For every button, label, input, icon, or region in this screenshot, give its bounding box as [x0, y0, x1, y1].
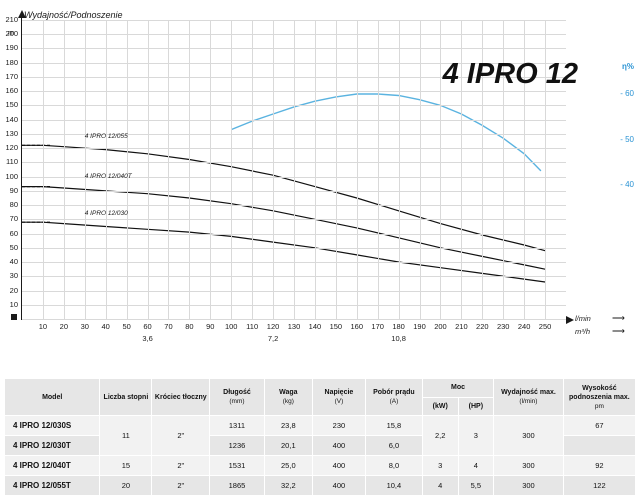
cell-voltage: 400: [312, 436, 365, 456]
gridline-v: [336, 20, 337, 319]
gridline-h: [22, 120, 566, 121]
cell-flow-max: 300: [494, 456, 564, 476]
th-weight-text: Waga: [279, 389, 297, 396]
x-axis-unit-secondary-arrow-icon: ⟶: [612, 327, 625, 335]
x-tick-label: 90: [201, 322, 219, 331]
x-axis-unit-secondary: m³/h: [575, 327, 590, 336]
th-head-max-text: Wysokość podnoszenia max.: [569, 385, 630, 401]
y-tick-label: 70: [0, 215, 18, 223]
cell-power-kw: 3: [422, 456, 458, 476]
x-tick-label: 10: [34, 322, 52, 331]
curve-4-ipro-12-040t: [22, 187, 545, 270]
th-voltage: Napięcie (V): [312, 379, 365, 416]
cell-outlet: 2": [152, 416, 210, 456]
gridline-h: [22, 248, 566, 249]
gridline-v: [420, 20, 421, 319]
cell-power-kw: 2,2: [422, 416, 458, 456]
x-tick-label: 230: [494, 322, 512, 331]
gridline-h: [22, 148, 566, 149]
x-tick-label-secondary: 7,2: [262, 334, 284, 343]
gridline-v: [357, 20, 358, 319]
x-axis-unit-primary-arrow-icon: ⟶: [612, 314, 625, 322]
gridline-h: [22, 48, 566, 49]
efficiency-tick-label: - 50: [620, 135, 634, 144]
x-tick-label: 160: [348, 322, 366, 331]
cell-model: 4 IPRO 12/040T: [5, 456, 100, 476]
th-head-max: Wysokość podnoszenia max. pm: [563, 379, 635, 416]
curve-label: 4 IPRO 12/030: [85, 210, 128, 217]
cell-weight: 25,0: [264, 456, 312, 476]
x-tick-label: 180: [390, 322, 408, 331]
specs-table: Model Liczba stopni Króciec tłoczny Dług…: [4, 378, 636, 496]
origin-marker: [11, 314, 17, 320]
cell-model: 4 IPRO 12/030T: [5, 436, 100, 456]
th-length: Długość (mm): [210, 379, 265, 416]
y-tick-label: 90: [0, 187, 18, 195]
efficiency-tick-label: - 40: [620, 180, 634, 189]
gridline-v: [440, 20, 441, 319]
gridline-v: [273, 20, 274, 319]
x-tick-label: 110: [243, 322, 261, 331]
y-tick-label: 190: [0, 44, 18, 52]
cell-current: 8,0: [365, 456, 422, 476]
gridline-v: [252, 20, 253, 319]
th-current-text: Pobór prądu: [373, 389, 415, 396]
x-tick-label: 100: [222, 322, 240, 331]
cell-voltage: 400: [312, 456, 365, 476]
gridline-h: [22, 219, 566, 220]
y-tick-label: 20: [0, 287, 18, 295]
pump-curve-datasheet: Wydajność/Podnoszenie m 1020304050607080…: [0, 0, 640, 475]
cell-outlet: 2": [152, 456, 210, 476]
cell-model: 4 IPRO 12/030S: [5, 416, 100, 436]
cell-length: 1531: [210, 456, 265, 476]
y-tick-label: 170: [0, 73, 18, 81]
table-row: 4 IPRO 12/030S112"131123,823015,82,23300…: [5, 416, 636, 436]
x-tick-label: 80: [180, 322, 198, 331]
y-tick-label: 180: [0, 59, 18, 67]
cell-stages: 20: [100, 476, 152, 496]
gridline-v: [210, 20, 211, 319]
th-stages: Liczba stopni: [100, 379, 152, 416]
cell-current: 6,0: [365, 436, 422, 456]
cell-head-max: 92: [563, 456, 635, 476]
cell-head-max: 67: [563, 416, 635, 436]
gridline-v: [378, 20, 379, 319]
x-tick-label: 40: [97, 322, 115, 331]
th-power-kw: (kW): [422, 397, 458, 416]
th-flow-max-text: Wydajność max.: [501, 389, 556, 396]
curve-4-ipro-12-055: [22, 145, 545, 250]
gridline-h: [22, 205, 566, 206]
gridline-v: [189, 20, 190, 319]
th-length-text: Długość: [223, 389, 251, 396]
specs-table-wrap: Model Liczba stopni Króciec tłoczny Dług…: [4, 378, 636, 496]
gridline-v: [85, 20, 86, 319]
cell-flow-max: 300: [494, 416, 564, 456]
gridline-h: [22, 191, 566, 192]
cell-stages: 11: [100, 416, 152, 456]
gridline-h: [22, 34, 566, 35]
x-tick-label: 250: [536, 322, 554, 331]
cell-length: 1865: [210, 476, 265, 496]
cell-length: 1236: [210, 436, 265, 456]
efficiency-tick-label: - 60: [620, 89, 634, 98]
curve-label: 4 IPRO 12/055: [85, 133, 128, 140]
cell-head-max: 122: [563, 476, 635, 496]
cell-voltage: 400: [312, 476, 365, 496]
gridline-h: [22, 319, 566, 320]
x-tick-label: 240: [515, 322, 533, 331]
x-tick-label-secondary: 10,8: [388, 334, 410, 343]
gridline-h: [22, 305, 566, 306]
cell-length: 1311: [210, 416, 265, 436]
cell-voltage: 230: [312, 416, 365, 436]
y-tick-label: 210: [0, 16, 18, 24]
th-weight: Waga (kg): [264, 379, 312, 416]
y-tick-label: 30: [0, 272, 18, 280]
gridline-v: [106, 20, 107, 319]
gridline-v: [399, 20, 400, 319]
cell-weight: 32,2: [264, 476, 312, 496]
model-brand-label: 4 IPRO 12: [443, 58, 578, 91]
th-power: Moc: [422, 379, 493, 398]
th-outlet: Króciec tłoczny: [152, 379, 210, 416]
curve-label: 4 IPRO 12/040T: [85, 173, 132, 180]
gridline-v: [127, 20, 128, 319]
y-tick-label: 120: [0, 144, 18, 152]
th-power-hp: (HP): [458, 397, 494, 416]
th-head-max-unit: pm: [595, 403, 604, 410]
x-tick-label: 190: [411, 322, 429, 331]
gridline-v: [148, 20, 149, 319]
cell-flow-max: 300: [494, 476, 564, 496]
x-tick-label: 130: [285, 322, 303, 331]
gridline-h: [22, 291, 566, 292]
cell-power-kw: 4: [422, 476, 458, 496]
x-tick-label: 60: [139, 322, 157, 331]
cell-weight: 20,1: [264, 436, 312, 456]
chart-title: Wydajność/Podnoszenie: [24, 10, 123, 20]
x-tick-label-secondary: 3,6: [137, 334, 159, 343]
gridline-v: [315, 20, 316, 319]
table-row: 4 IPRO 12/040T152"153125,04008,03430092: [5, 456, 636, 476]
y-tick-label: 60: [0, 230, 18, 238]
y-tick-label: 200: [0, 30, 18, 38]
cell-current: 10,4: [365, 476, 422, 496]
gridline-v: [64, 20, 65, 319]
x-tick-label: 70: [159, 322, 177, 331]
x-tick-label: 20: [55, 322, 73, 331]
efficiency-axis-label: η%: [622, 62, 634, 71]
y-tick-label: 160: [0, 87, 18, 95]
specs-header-row: Model Liczba stopni Króciec tłoczny Dług…: [5, 379, 636, 398]
y-tick-label: 110: [0, 158, 18, 166]
performance-chart: Wydajność/Podnoszenie m 1020304050607080…: [0, 0, 640, 352]
cell-stages: 15: [100, 456, 152, 476]
th-weight-unit: (kg): [283, 398, 294, 405]
gridline-v: [294, 20, 295, 319]
y-tick-label: 10: [0, 301, 18, 309]
cell-head-max: [563, 436, 635, 456]
cell-power-hp: 4: [458, 456, 494, 476]
th-voltage-text: Napięcie: [325, 389, 354, 396]
x-tick-label: 50: [118, 322, 136, 331]
y-axis-arrow-icon: [18, 10, 26, 18]
th-voltage-unit: (V): [335, 398, 344, 405]
cell-current: 15,8: [365, 416, 422, 436]
specs-table-head: Model Liczba stopni Króciec tłoczny Dług…: [5, 379, 636, 416]
y-tick-label: 40: [0, 258, 18, 266]
x-tick-label: 150: [327, 322, 345, 331]
x-axis-arrow-icon: [566, 316, 574, 324]
x-tick-label: 170: [369, 322, 387, 331]
specs-table-body: 4 IPRO 12/030S112"131123,823015,82,23300…: [5, 416, 636, 496]
gridline-h: [22, 276, 566, 277]
y-tick-label: 150: [0, 101, 18, 109]
th-model: Model: [5, 379, 100, 416]
th-flow-max: Wydajność max. (l/min): [494, 379, 564, 416]
x-tick-label: 140: [306, 322, 324, 331]
gridline-h: [22, 262, 566, 263]
gridline-h: [22, 105, 566, 106]
th-current-unit: (A): [390, 398, 399, 405]
cell-outlet: 2": [152, 476, 210, 496]
gridline-v: [168, 20, 169, 319]
x-tick-label: 210: [452, 322, 470, 331]
x-tick-label: 200: [431, 322, 449, 331]
y-tick-label: 140: [0, 116, 18, 124]
table-row: 4 IPRO 12/055T202"186532,240010,445,5300…: [5, 476, 636, 496]
cell-power-hp: 3: [458, 416, 494, 456]
cell-model: 4 IPRO 12/055T: [5, 476, 100, 496]
x-tick-label: 30: [76, 322, 94, 331]
y-tick-label: 50: [0, 244, 18, 252]
th-length-unit: (mm): [229, 398, 244, 405]
y-tick-label: 130: [0, 130, 18, 138]
gridline-v: [43, 20, 44, 319]
x-axis-unit-primary: l/min: [575, 314, 591, 323]
gridline-v: [231, 20, 232, 319]
gridline-h: [22, 162, 566, 163]
cell-power-hp: 5,5: [458, 476, 494, 496]
y-tick-label: 80: [0, 201, 18, 209]
gridline-h: [22, 234, 566, 235]
y-tick-label: 100: [0, 173, 18, 181]
th-current: Pobór prądu (A): [365, 379, 422, 416]
th-flow-max-unit: (l/min): [519, 398, 537, 405]
gridline-h: [22, 91, 566, 92]
x-tick-label: 120: [264, 322, 282, 331]
gridline-h: [22, 20, 566, 21]
x-tick-label: 220: [473, 322, 491, 331]
cell-weight: 23,8: [264, 416, 312, 436]
